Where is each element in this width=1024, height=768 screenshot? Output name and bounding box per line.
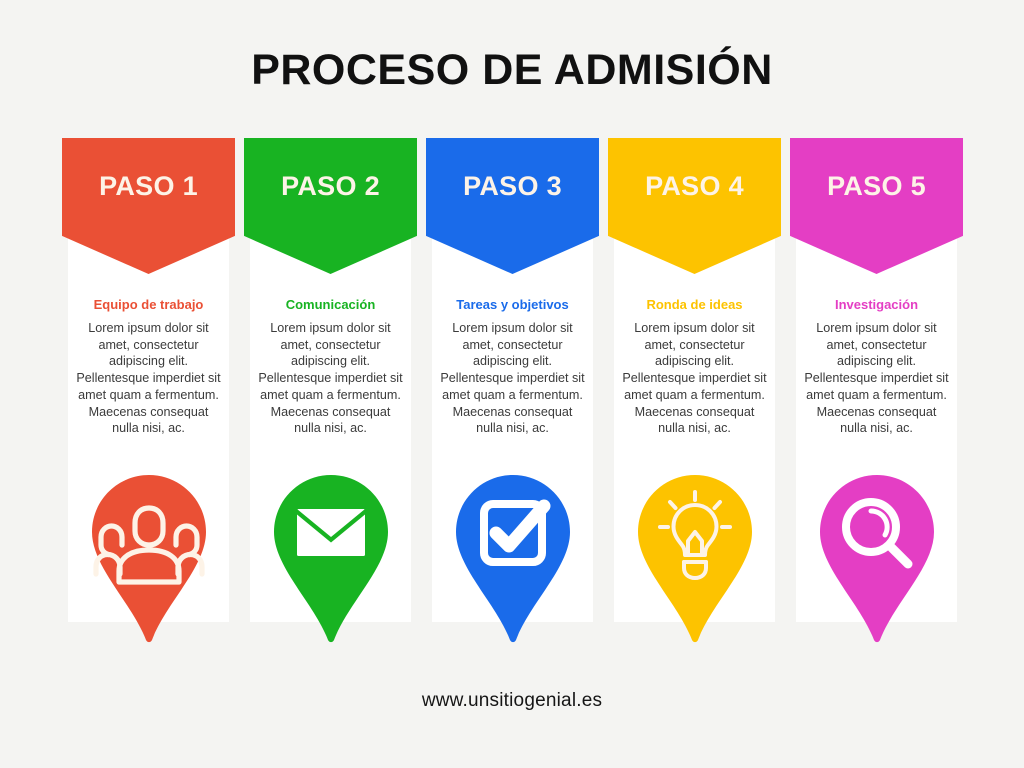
step-column-2: PASO 2 Comunicación Lorem ipsum dolor si… <box>244 138 417 668</box>
step-pin-3[interactable] <box>456 475 570 643</box>
envelope-icon <box>274 475 388 643</box>
step-body-4: Lorem ipsum dolor sit amet, consectetur … <box>614 320 775 437</box>
step-banner-label-2: PASO 2 <box>281 171 380 202</box>
step-banner-label-3: PASO 3 <box>463 171 562 202</box>
step-heading-1: Equipo de trabajo <box>66 297 231 313</box>
step-banner-label-5: PASO 5 <box>827 171 926 202</box>
step-heading-5: Investigación <box>794 297 959 313</box>
step-heading-4: Ronda de ideas <box>612 297 777 313</box>
people-icon <box>92 475 206 643</box>
step-column-4: PASO 4 Ronda de ideas Lorem ipsum dolor … <box>608 138 781 668</box>
step-body-1: Lorem ipsum dolor sit amet, consectetur … <box>68 320 229 437</box>
infographic-poster: PROCESO DE ADMISIÓN PASO 1 Equipo de tra… <box>0 0 1024 768</box>
page-title: PROCESO DE ADMISIÓN <box>0 47 1024 94</box>
step-pin-1[interactable] <box>92 475 206 643</box>
step-body-2: Lorem ipsum dolor sit amet, consectetur … <box>250 320 411 437</box>
step-body-5: Lorem ipsum dolor sit amet, consectetur … <box>796 320 957 437</box>
step-pin-5[interactable] <box>820 475 934 643</box>
step-body-3: Lorem ipsum dolor sit amet, consectetur … <box>432 320 593 437</box>
step-banner-label-4: PASO 4 <box>645 171 744 202</box>
step-pin-4[interactable] <box>638 475 752 643</box>
checkbox-icon <box>456 475 570 643</box>
lightbulb-icon <box>638 475 752 643</box>
step-column-3: PASO 3 Tareas y objetivos Lorem ipsum do… <box>426 138 599 668</box>
steps-container: PASO 1 Equipo de trabajo Lorem ipsum dol… <box>62 138 963 668</box>
step-column-5: PASO 5 Investigación Lorem ipsum dolor s… <box>790 138 963 668</box>
footer-url: www.unsitiogenial.es <box>0 690 1024 712</box>
step-banner-label-1: PASO 1 <box>99 171 198 202</box>
step-pin-2[interactable] <box>274 475 388 643</box>
magnifier-icon <box>820 475 934 643</box>
step-heading-2: Comunicación <box>248 297 413 313</box>
step-heading-3: Tareas y objetivos <box>430 297 595 313</box>
step-column-1: PASO 1 Equipo de trabajo Lorem ipsum dol… <box>62 138 235 668</box>
